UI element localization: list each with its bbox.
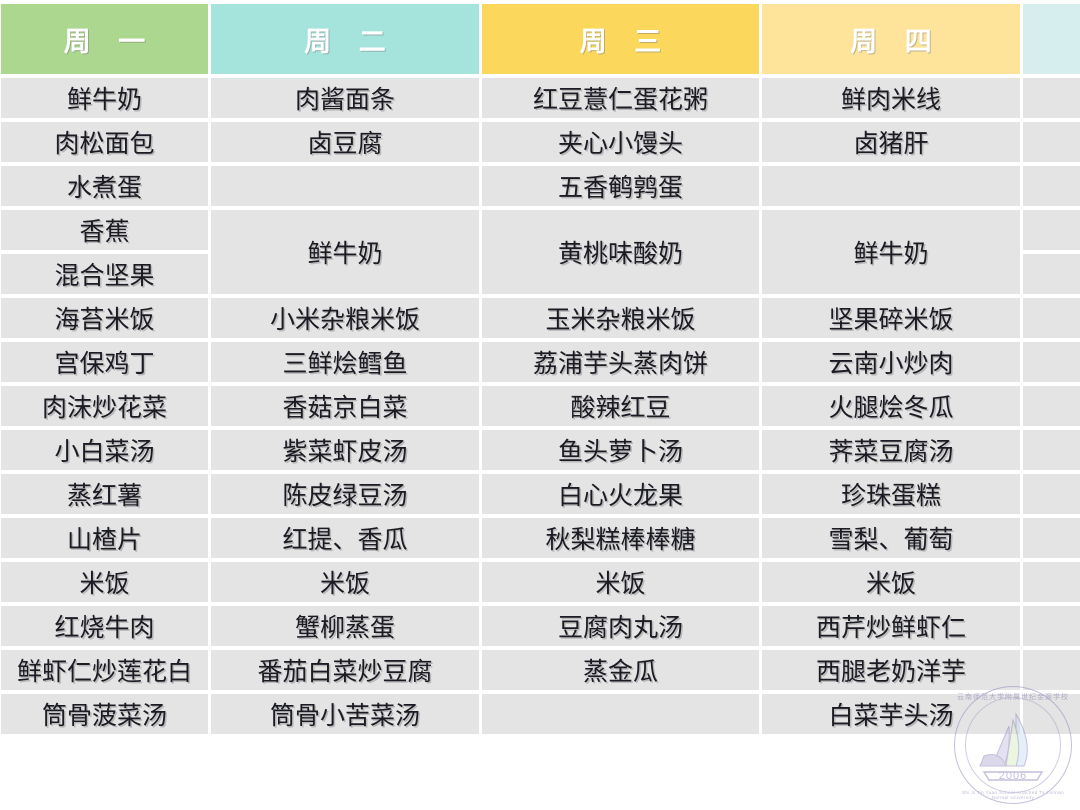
menu-cell-mon: 宫保鸡丁 xyxy=(1,342,208,382)
menu-row: 宫保鸡丁三鲜烩鳕鱼荔浦芋头蒸肉饼云南小炒肉 xyxy=(1,342,1080,382)
menu-cell-thu: 米饭 xyxy=(762,562,1020,602)
menu-cell-tue: 蟹柳蒸蛋 xyxy=(211,606,479,646)
menu-row: 香蕉鲜牛奶黄桃味酸奶鲜牛奶 xyxy=(1,210,1080,250)
menu-cell-fri xyxy=(1023,606,1080,646)
menu-cell-wed: 荔浦芋头蒸肉饼 xyxy=(482,342,759,382)
menu-row: 鲜虾仁炒莲花白番茄白菜炒豆腐蒸金瓜西腿老奶洋芋 xyxy=(1,650,1080,690)
menu-cell-wed: 鱼头萝卜汤 xyxy=(482,430,759,470)
menu-table-header: 周 一 周 二 周 三 周 四 xyxy=(1,4,1080,74)
menu-cell-tue: 筒骨小苦菜汤 xyxy=(211,694,479,734)
day-header-tuesday: 周 二 xyxy=(211,4,479,74)
menu-cell-wed: 米饭 xyxy=(482,562,759,602)
menu-cell-mon: 香蕉 xyxy=(1,210,208,250)
menu-cell-mon: 海苔米饭 xyxy=(1,298,208,338)
menu-row: 鲜牛奶肉酱面条红豆薏仁蛋花粥鲜肉米线 xyxy=(1,78,1080,118)
menu-cell-tue: 红提、香瓜 xyxy=(211,518,479,558)
menu-cell-wed: 夹心小馒头 xyxy=(482,122,759,162)
menu-row: 米饭米饭米饭米饭 xyxy=(1,562,1080,602)
menu-cell-thu: 火腿烩冬瓜 xyxy=(762,386,1020,426)
menu-cell-mon: 肉沫炒花菜 xyxy=(1,386,208,426)
menu-cell-fri xyxy=(1023,78,1080,118)
menu-cell-mon: 鲜牛奶 xyxy=(1,78,208,118)
menu-cell-mon: 山楂片 xyxy=(1,518,208,558)
day-header-wednesday: 周 三 xyxy=(482,4,759,74)
menu-cell-fri xyxy=(1023,210,1080,250)
menu-row: 水煮蛋五香鹌鹑蛋 xyxy=(1,166,1080,206)
menu-cell-tue: 米饭 xyxy=(211,562,479,602)
menu-cell-mon: 米饭 xyxy=(1,562,208,602)
menu-cell-fri: 筒骨汤 xyxy=(1023,430,1080,470)
menu-cell-wed: 蒸金瓜 xyxy=(482,650,759,690)
menu-cell-mon: 鲜虾仁炒莲花白 xyxy=(1,650,208,690)
menu-cell-wed: 秋梨糕棒棒糖 xyxy=(482,518,759,558)
menu-cell-fri xyxy=(1023,694,1080,734)
menu-cell-tue: 紫菜虾皮汤 xyxy=(211,430,479,470)
menu-cell-thu: 卤猪肝 xyxy=(762,122,1020,162)
menu-row: 蒸红薯陈皮绿豆汤白心火龙果珍珠蛋糕水果 xyxy=(1,474,1080,514)
menu-cell-tue xyxy=(211,166,479,206)
menu-cell-tue: 肉酱面条 xyxy=(211,78,479,118)
menu-row: 筒骨菠菜汤筒骨小苦菜汤白菜芋头汤 xyxy=(1,694,1080,734)
menu-cell-tue: 香菇京白菜 xyxy=(211,386,479,426)
menu-cell-wed: 五香鹌鹑蛋 xyxy=(482,166,759,206)
menu-row: 红烧牛肉蟹柳蒸蛋豆腐肉丸汤西芹炒鲜虾仁 xyxy=(1,606,1080,646)
menu-cell-thu: 鲜牛奶 xyxy=(762,210,1020,294)
menu-cell-mon: 混合坚果 xyxy=(1,254,208,294)
menu-row: 海苔米饭小米杂粮米饭玉米杂粮米饭坚果碎米饭糙米饭 xyxy=(1,298,1080,338)
menu-cell-thu: 西腿老奶洋芋 xyxy=(762,650,1020,690)
menu-cell-tue: 三鲜烩鳕鱼 xyxy=(211,342,479,382)
menu-cell-fri: 娃娃菜 xyxy=(1023,386,1080,426)
menu-cell-fri xyxy=(1023,254,1080,294)
menu-cell-mon: 小白菜汤 xyxy=(1,430,208,470)
menu-cell-thu: 西芹炒鲜虾仁 xyxy=(762,606,1020,646)
menu-cell-thu: 坚果碎米饭 xyxy=(762,298,1020,338)
day-header-monday: 周 一 xyxy=(1,4,208,74)
menu-cell-tue: 陈皮绿豆汤 xyxy=(211,474,479,514)
menu-cell-thu: 雪梨、葡萄 xyxy=(762,518,1020,558)
menu-cell-tue: 卤豆腐 xyxy=(211,122,479,162)
weekly-menu-table: 周 一 周 二 周 三 周 四 鲜牛奶肉酱面条红豆薏仁蛋花粥鲜肉米线肉松面包卤豆… xyxy=(0,0,1080,738)
day-header-friday xyxy=(1023,4,1080,74)
menu-cell-mon: 筒骨菠菜汤 xyxy=(1,694,208,734)
menu-cell-mon: 蒸红薯 xyxy=(1,474,208,514)
menu-cell-fri xyxy=(1023,122,1080,162)
day-header-row: 周 一 周 二 周 三 周 四 xyxy=(1,4,1080,74)
menu-cell-thu xyxy=(762,166,1020,206)
menu-cell-wed: 酸辣红豆 xyxy=(482,386,759,426)
menu-cell-wed: 红豆薏仁蛋花粥 xyxy=(482,78,759,118)
menu-cell-wed xyxy=(482,694,759,734)
menu-cell-tue: 小米杂粮米饭 xyxy=(211,298,479,338)
menu-cell-wed: 白心火龙果 xyxy=(482,474,759,514)
menu-cell-thu: 鲜肉米线 xyxy=(762,78,1020,118)
menu-cell-thu: 珍珠蛋糕 xyxy=(762,474,1020,514)
menu-cell-tue: 番茄白菜炒豆腐 xyxy=(211,650,479,690)
menu-cell-fri xyxy=(1023,342,1080,382)
day-header-thursday: 周 四 xyxy=(762,4,1020,74)
menu-row: 小白菜汤紫菜虾皮汤鱼头萝卜汤荠菜豆腐汤筒骨汤 xyxy=(1,430,1080,470)
menu-cell-fri xyxy=(1023,166,1080,206)
menu-cell-thu: 白菜芋头汤 xyxy=(762,694,1020,734)
menu-cell-fri xyxy=(1023,562,1080,602)
menu-cell-wed: 黄桃味酸奶 xyxy=(482,210,759,294)
logo-year: 2006 xyxy=(954,770,1072,782)
menu-cell-fri: 糙米饭 xyxy=(1023,298,1080,338)
menu-row: 肉松面包卤豆腐夹心小馒头卤猪肝 xyxy=(1,122,1080,162)
logo-english-text: Shi Ji Jin Yuan School Attached To Yunna… xyxy=(954,790,1072,800)
menu-cell-wed: 玉米杂粮米饭 xyxy=(482,298,759,338)
menu-cell-thu: 荠菜豆腐汤 xyxy=(762,430,1020,470)
menu-cell-wed: 豆腐肉丸汤 xyxy=(482,606,759,646)
menu-row: 山楂片红提、香瓜秋梨糕棒棒糖雪梨、葡萄 xyxy=(1,518,1080,558)
menu-cell-thu: 云南小炒肉 xyxy=(762,342,1020,382)
menu-cell-mon: 水煮蛋 xyxy=(1,166,208,206)
menu-cell-fri xyxy=(1023,650,1080,690)
menu-cell-mon: 红烧牛肉 xyxy=(1,606,208,646)
menu-row: 肉沫炒花菜香菇京白菜酸辣红豆火腿烩冬瓜娃娃菜 xyxy=(1,386,1080,426)
menu-cell-tue: 鲜牛奶 xyxy=(211,210,479,294)
menu-cell-fri xyxy=(1023,518,1080,558)
menu-cell-mon: 肉松面包 xyxy=(1,122,208,162)
menu-cell-fri: 水果 xyxy=(1023,474,1080,514)
menu-table-body: 鲜牛奶肉酱面条红豆薏仁蛋花粥鲜肉米线肉松面包卤豆腐夹心小馒头卤猪肝水煮蛋五香鹌鹑… xyxy=(1,78,1080,734)
